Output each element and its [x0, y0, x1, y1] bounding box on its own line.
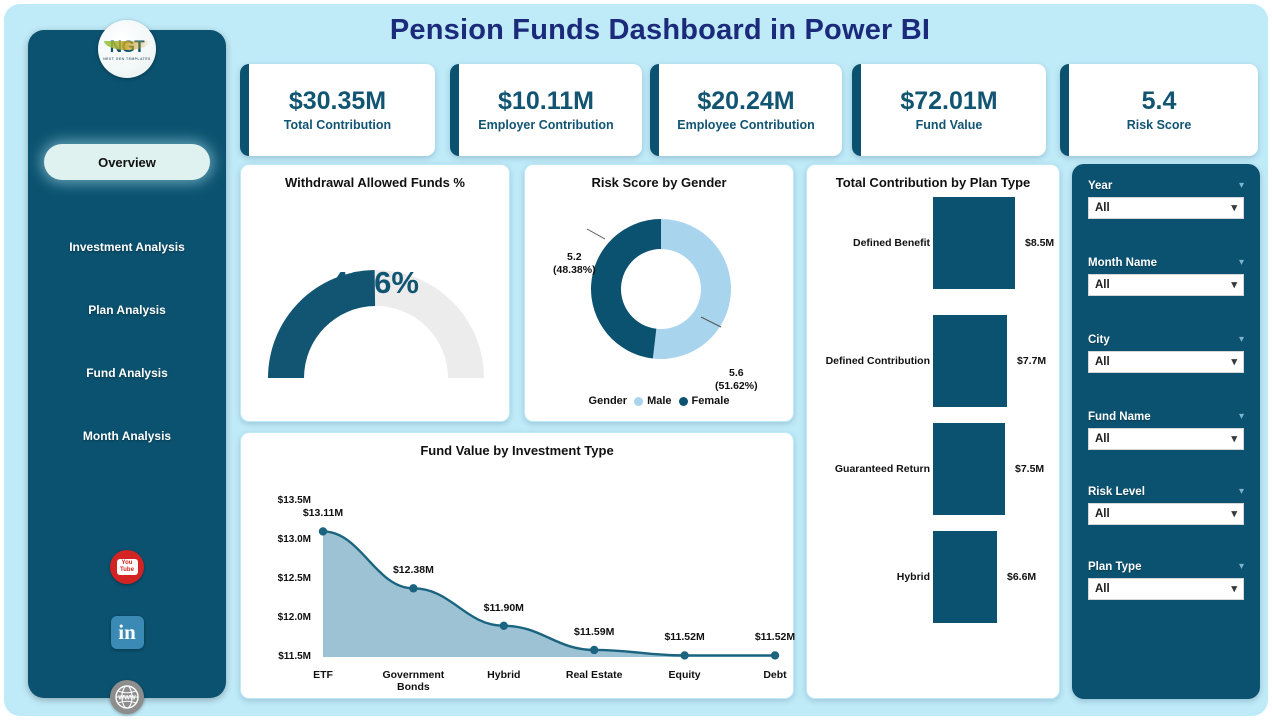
chevron-down-icon[interactable]: ▾	[1239, 562, 1244, 572]
filter-risk-level: Risk Level ▾ All ▾	[1088, 486, 1244, 525]
gauge-arc	[241, 223, 509, 393]
filter-header: Plan Type ▾	[1088, 561, 1244, 573]
filter-value: All	[1095, 508, 1110, 520]
filter-value: All	[1095, 583, 1110, 595]
filter-value: All	[1095, 202, 1110, 214]
filter-header: Risk Level ▾	[1088, 486, 1244, 498]
y-axis-tick: $13.5M	[247, 495, 311, 506]
bar-category-label: Defined Contribution	[826, 355, 930, 367]
kpi-accent-bar	[240, 64, 249, 156]
filter-dropdown-plan-type[interactable]: All ▾	[1088, 578, 1244, 600]
kpi-value: 5.4	[1142, 88, 1177, 114]
sidebar-item-overview[interactable]: Overview	[44, 144, 210, 180]
sidebar-item-month-analysis[interactable]: Month Analysis	[44, 424, 210, 448]
gauge-title: Withdrawal Allowed Funds %	[241, 175, 509, 190]
filter-value: All	[1095, 279, 1110, 291]
x-axis-tick: Equity	[637, 669, 733, 681]
data-point-label: $12.38M	[371, 564, 455, 576]
kpi-value: $30.35M	[289, 88, 386, 114]
data-point-label: $11.52M	[733, 631, 817, 643]
chevron-down-icon[interactable]: ▾	[1239, 181, 1244, 191]
chevron-down-icon[interactable]: ▾	[1239, 412, 1244, 422]
chevron-down-icon: ▾	[1231, 509, 1237, 520]
y-axis-tick: $13.0M	[247, 534, 311, 545]
kpi-accent-bar	[1060, 64, 1069, 156]
kpi-accent-bar	[852, 64, 861, 156]
dashboard-root: NGT NEXT GEN TEMPLATES Overview Investme…	[0, 0, 1272, 720]
filter-pane: Year ▾ All ▾ Month Name ▾ All ▾ City ▾	[1072, 164, 1260, 699]
page-title: Pension Funds Dashboard in Power BI	[240, 14, 1080, 54]
filter-dropdown-city[interactable]: All ▾	[1088, 351, 1244, 373]
x-axis-tick: GovernmentBonds	[365, 669, 461, 693]
legend-label-male: Male	[647, 395, 671, 407]
kpi-card-total-contribution[interactable]: $30.35M Total Contribution	[240, 64, 435, 156]
bar-value-label: $7.5M	[1015, 463, 1044, 475]
bar-row[interactable]: Defined Benefit$8.5M	[807, 197, 1059, 289]
kpi-card-fund-value[interactable]: $72.01M Fund Value	[852, 64, 1046, 156]
data-point-label: $13.11M	[281, 507, 365, 519]
bar-rect[interactable]	[933, 315, 1007, 407]
legend-swatch-female	[679, 397, 688, 406]
website-link[interactable]: WWW	[109, 679, 145, 715]
gauge-visual-withdrawal-allowed-funds[interactable]: Withdrawal Allowed Funds % 49.6%	[240, 164, 510, 422]
filter-label: Year	[1088, 180, 1112, 192]
chevron-down-icon: ▾	[1231, 357, 1237, 368]
svg-text:WWW: WWW	[118, 695, 136, 702]
filter-fund-name: Fund Name ▾ All ▾	[1088, 411, 1244, 450]
bar-title: Total Contribution by Plan Type	[807, 175, 1059, 190]
chevron-down-icon[interactable]: ▾	[1239, 335, 1244, 345]
bar-row[interactable]: Defined Contribution$7.7M	[807, 315, 1059, 407]
y-axis-tick: $12.0M	[247, 612, 311, 623]
gauge-value-label: 49.6%	[241, 265, 509, 301]
filter-label: Risk Level	[1088, 486, 1145, 498]
x-axis-tick: Debt	[727, 669, 823, 681]
dashboard-canvas: NGT NEXT GEN TEMPLATES Overview Investme…	[4, 4, 1268, 716]
filter-value: All	[1095, 356, 1110, 368]
kpi-accent-bar	[450, 64, 459, 156]
bar-value-label: $8.5M	[1025, 237, 1054, 249]
kpi-card-employer-contribution[interactable]: $10.11M Employer Contribution	[450, 64, 642, 156]
linkedin-icon: in	[111, 616, 144, 649]
donut-chart: 5.2 (48.38%) 5.6 (51.62%)	[525, 201, 793, 376]
filter-label: Fund Name	[1088, 411, 1151, 423]
kpi-card-risk-score[interactable]: 5.4 Risk Score	[1060, 64, 1258, 156]
bar-value-label: $7.7M	[1017, 355, 1046, 367]
sidebar-item-plan-analysis[interactable]: Plan Analysis	[44, 298, 210, 322]
bar-visual-total-contribution-by-plan-type[interactable]: Total Contribution by Plan Type Defined …	[806, 164, 1060, 699]
bar-category-label: Defined Benefit	[853, 237, 930, 249]
filter-header: Month Name ▾	[1088, 257, 1244, 269]
kpi-label: Fund Value	[916, 118, 983, 132]
data-point-label: $11.52M	[643, 631, 727, 643]
area-chart-plot: $11.5M$12.0M$12.5M$13.0M$13.5M$13.11METF…	[241, 465, 793, 695]
area-title: Fund Value by Investment Type	[241, 443, 793, 458]
filter-label: Plan Type	[1088, 561, 1141, 573]
chevron-down-icon: ▾	[1231, 280, 1237, 291]
donut-callout-male: 5.6 (51.62%)	[715, 367, 758, 393]
sidebar-item-fund-analysis[interactable]: Fund Analysis	[44, 361, 210, 385]
filter-dropdown-year[interactable]: All ▾	[1088, 197, 1244, 219]
chevron-down-icon[interactable]: ▾	[1239, 487, 1244, 497]
kpi-label: Employer Contribution	[478, 118, 613, 132]
filter-city: City ▾ All ▾	[1088, 334, 1244, 373]
kpi-label: Total Contribution	[284, 118, 391, 132]
sidebar-item-investment-analysis[interactable]: Investment Analysis	[44, 235, 210, 259]
chevron-down-icon: ▾	[1231, 584, 1237, 595]
x-axis-tick: Hybrid	[456, 669, 552, 681]
donut-visual-risk-score-by-gender[interactable]: Risk Score by Gender 5.2 (48.38%) 5.6 (5…	[524, 164, 794, 422]
donut-legend: Gender Male Female	[525, 395, 793, 407]
bar-row[interactable]: Guaranteed Return$7.5M	[807, 423, 1059, 515]
y-axis-tick: $11.5M	[247, 651, 311, 662]
kpi-value: $20.24M	[697, 88, 794, 114]
filter-label: City	[1088, 334, 1110, 346]
bar-value-label: $6.6M	[1007, 571, 1036, 583]
legend-item-female[interactable]: Female	[679, 395, 730, 407]
kpi-value: $10.11M	[498, 88, 594, 114]
legend-swatch-male	[634, 397, 643, 406]
filter-plan-type: Plan Type ▾ All ▾	[1088, 561, 1244, 600]
legend-item-male[interactable]: Male	[634, 395, 671, 407]
donut-title: Risk Score by Gender	[525, 175, 793, 190]
donut-callout-female: 5.2 (48.38%)	[553, 251, 596, 277]
kpi-accent-bar	[650, 64, 659, 156]
filter-dropdown-risk-level[interactable]: All ▾	[1088, 503, 1244, 525]
filter-header: City ▾	[1088, 334, 1244, 346]
bar-rect[interactable]	[933, 531, 997, 623]
bar-row[interactable]: Hybrid$6.6M	[807, 531, 1059, 623]
chevron-down-icon[interactable]: ▾	[1239, 258, 1244, 268]
linkedin-link[interactable]: in	[109, 614, 145, 650]
kpi-value: $72.01M	[900, 88, 997, 114]
bar-rect[interactable]	[933, 423, 1005, 515]
filter-dropdown-month-name[interactable]: All ▾	[1088, 274, 1244, 296]
x-axis-tick: ETF	[275, 669, 371, 681]
globe-icon: WWW	[110, 680, 144, 714]
chevron-down-icon: ▾	[1231, 203, 1237, 214]
data-point-label: $11.90M	[462, 602, 546, 614]
filter-label: Month Name	[1088, 257, 1157, 269]
legend-title: Gender	[589, 395, 628, 407]
x-axis-tick: Real Estate	[546, 669, 642, 681]
kpi-card-employee-contribution[interactable]: $20.24M Employee Contribution	[650, 64, 842, 156]
bar-category-label: Guaranteed Return	[835, 463, 930, 475]
youtube-icon: YouTube	[110, 550, 144, 584]
filter-header: Year ▾	[1088, 180, 1244, 192]
ngt-logo: NGT NEXT GEN TEMPLATES	[98, 20, 156, 78]
chevron-down-icon: ▾	[1231, 434, 1237, 445]
kpi-label: Employee Contribution	[677, 118, 815, 132]
sidebar: NGT NEXT GEN TEMPLATES Overview Investme…	[28, 30, 226, 698]
bar-rect[interactable]	[933, 197, 1015, 289]
area-visual-fund-value-by-investment-type[interactable]: Fund Value by Investment Type $11.5M$12.…	[240, 432, 794, 699]
filter-dropdown-fund-name[interactable]: All ▾	[1088, 428, 1244, 450]
data-point-label: $11.59M	[552, 626, 636, 638]
kpi-label: Risk Score	[1127, 118, 1192, 132]
y-axis-tick: $12.5M	[247, 573, 311, 584]
bar-category-label: Hybrid	[897, 571, 930, 583]
youtube-glyph: YouTube	[117, 559, 138, 575]
filter-month-name: Month Name ▾ All ▾	[1088, 257, 1244, 296]
filter-year: Year ▾ All ▾	[1088, 180, 1244, 219]
legend-label-female: Female	[692, 395, 730, 407]
filter-value: All	[1095, 433, 1110, 445]
filter-header: Fund Name ▾	[1088, 411, 1244, 423]
youtube-link[interactable]: YouTube	[109, 549, 145, 585]
logo-subtitle: NEXT GEN TEMPLATES	[103, 57, 151, 61]
